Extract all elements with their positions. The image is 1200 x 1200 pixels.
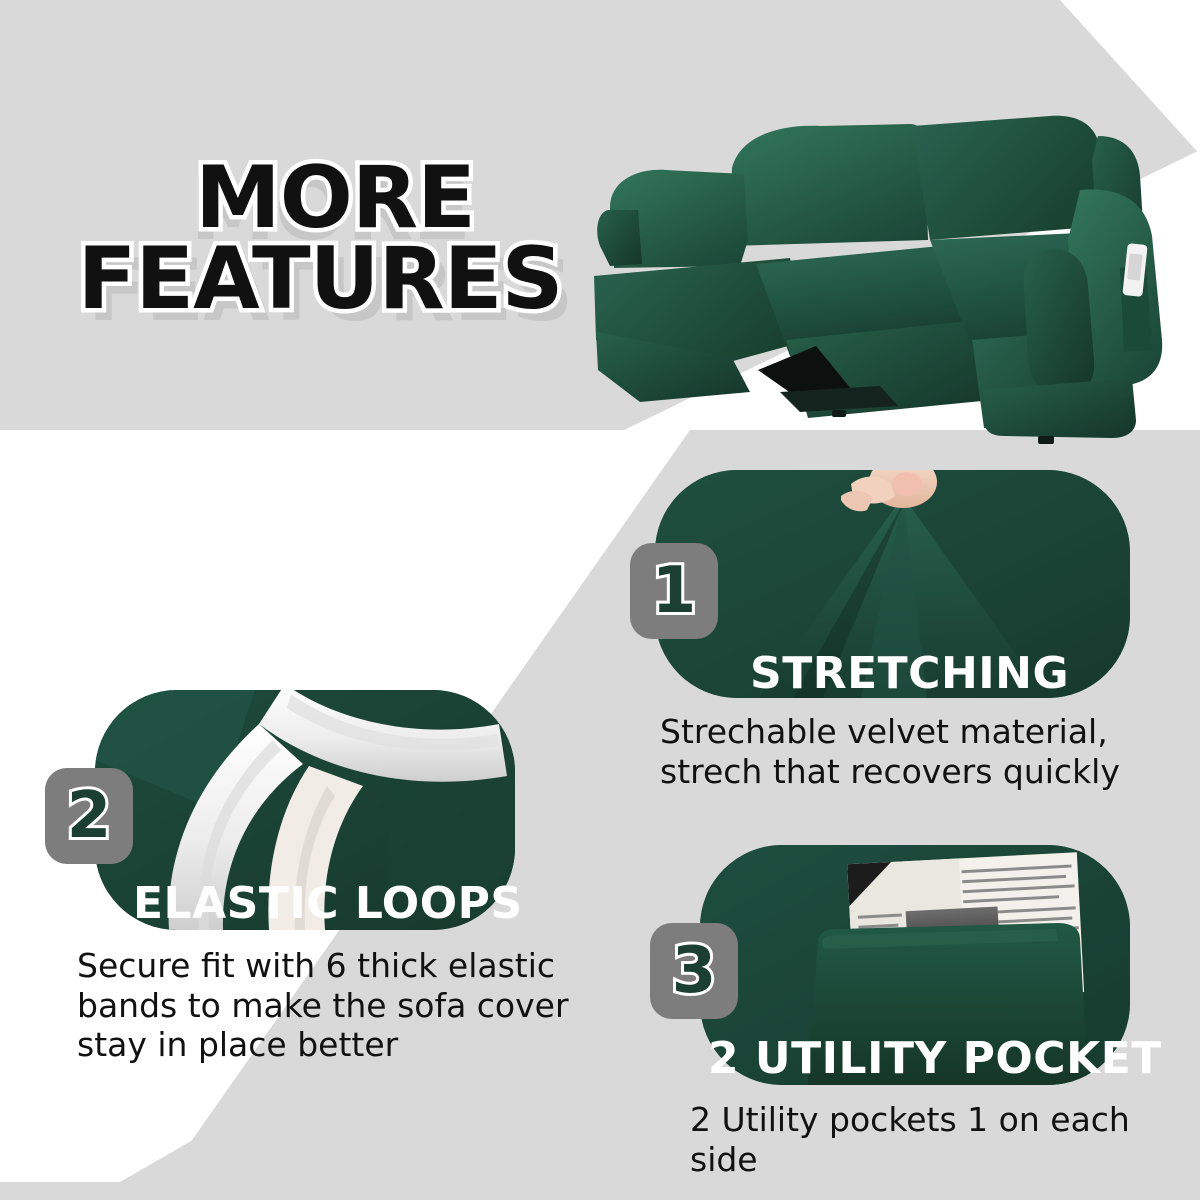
feature-2-number: 2 [67, 784, 112, 848]
feature-3-number: 3 [672, 939, 717, 1003]
feature-2-number-badge: 2 [45, 768, 133, 864]
feature-1-title: STRETCHING [750, 648, 1069, 699]
feature-card-stretching: 1 STRETCHING Strechable velvet material,… [655, 470, 1130, 810]
feature-3-title: 2 UTILITY POCKET [708, 1033, 1162, 1084]
feature-card-utility-pocket: 3 2 UTILITY POCKET 2 Utility pockets 1 o… [700, 845, 1160, 1195]
feature-1-number: 1 [652, 559, 697, 623]
feature-3-description: 2 Utility pockets 1 on each side [690, 1100, 1170, 1179]
feature-1-number-badge: 1 [630, 543, 718, 639]
hero-sofa-image [580, 40, 1200, 460]
page-title: MORE MORE FEATURES FEATURES [40, 160, 600, 319]
page-title-line-2: FEATURES FEATURES [40, 241, 600, 318]
infographic-canvas: MORE MORE FEATURES FEATURES [0, 0, 1200, 1200]
page-title-line-1: MORE MORE [40, 160, 600, 237]
feature-card-elastic-loops: 2 ELASTIC LOOPS Secure fit with 6 thick … [95, 690, 565, 1070]
feature-1-description: Strechable velvet material, strech that … [660, 712, 1150, 791]
feature-2-title: ELASTIC LOOPS [133, 878, 523, 929]
page-title-line-2-text: FEATURES [78, 229, 563, 329]
feature-3-number-badge: 3 [650, 923, 738, 1019]
feature-2-description: Secure fit with 6 thick elastic bands to… [77, 946, 617, 1065]
